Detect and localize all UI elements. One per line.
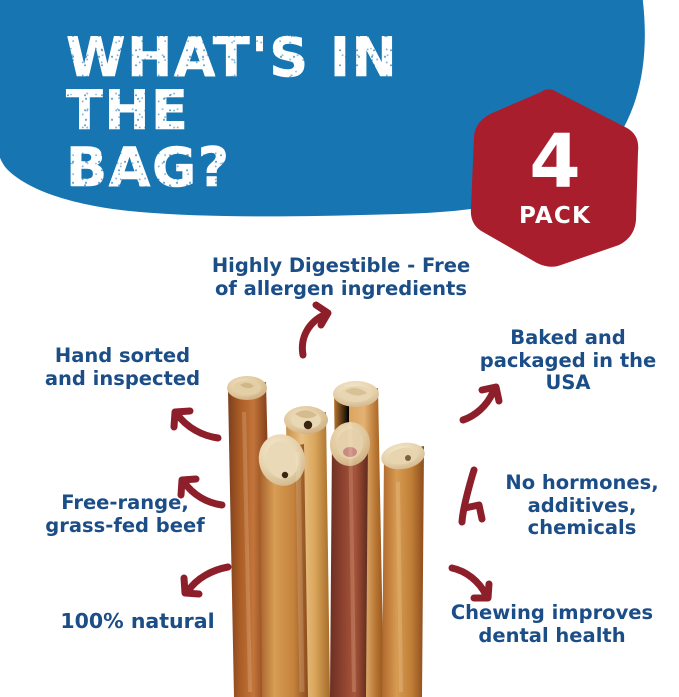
feature-no-hormones-line2: additives,: [528, 494, 637, 517]
feature-label-dental: Chewing improves dental health: [428, 602, 676, 647]
feature-no-hormones-line3: chemicals: [528, 516, 637, 539]
feature-label-natural: 100% natural: [30, 610, 245, 634]
feature-dental-line2: dental health: [478, 624, 625, 647]
feature-label-usa: Baked and packaged in the USA: [462, 327, 674, 395]
bully-stick-6: [379, 439, 427, 697]
feature-free-range-line2: grass-fed beef: [45, 514, 204, 537]
feature-usa-line3: USA: [546, 371, 591, 394]
infographic-canvas: WHAT'S IN THE BAG? 4 PACK: [0, 0, 679, 697]
feature-label-free-range: Free-range, grass-fed beef: [10, 492, 240, 537]
feature-digestible-line1: Highly Digestible - Free: [212, 254, 470, 277]
feature-hand-sorted-line1: Hand sorted: [55, 344, 190, 367]
feature-hand-sorted-line2: and inspected: [45, 367, 200, 390]
feature-no-hormones-line1: No hormones,: [505, 471, 658, 494]
feature-label-hand-sorted: Hand sorted and inspected: [20, 345, 225, 390]
pack-count-badge: 4 PACK: [469, 88, 641, 268]
page-title: WHAT'S IN THE BAG?: [66, 32, 526, 195]
title-line-2: BAG?: [66, 142, 526, 195]
feature-usa-line2: packaged in the: [480, 349, 657, 372]
feature-dental-line1: Chewing improves: [451, 601, 653, 624]
feature-free-range-line1: Free-range,: [61, 491, 188, 514]
feature-label-no-hormones: No hormones, additives, chemicals: [487, 472, 677, 540]
feature-digestible-line2: of allergen ingredients: [215, 277, 467, 300]
feature-label-digestible: Highly Digestible - Free of allergen ing…: [180, 255, 502, 300]
feature-natural-line1: 100% natural: [60, 609, 214, 633]
feature-usa-line1: Baked and: [510, 326, 625, 349]
title-line-1: WHAT'S IN THE: [66, 32, 526, 138]
hexagon-shape-icon: [469, 88, 641, 268]
